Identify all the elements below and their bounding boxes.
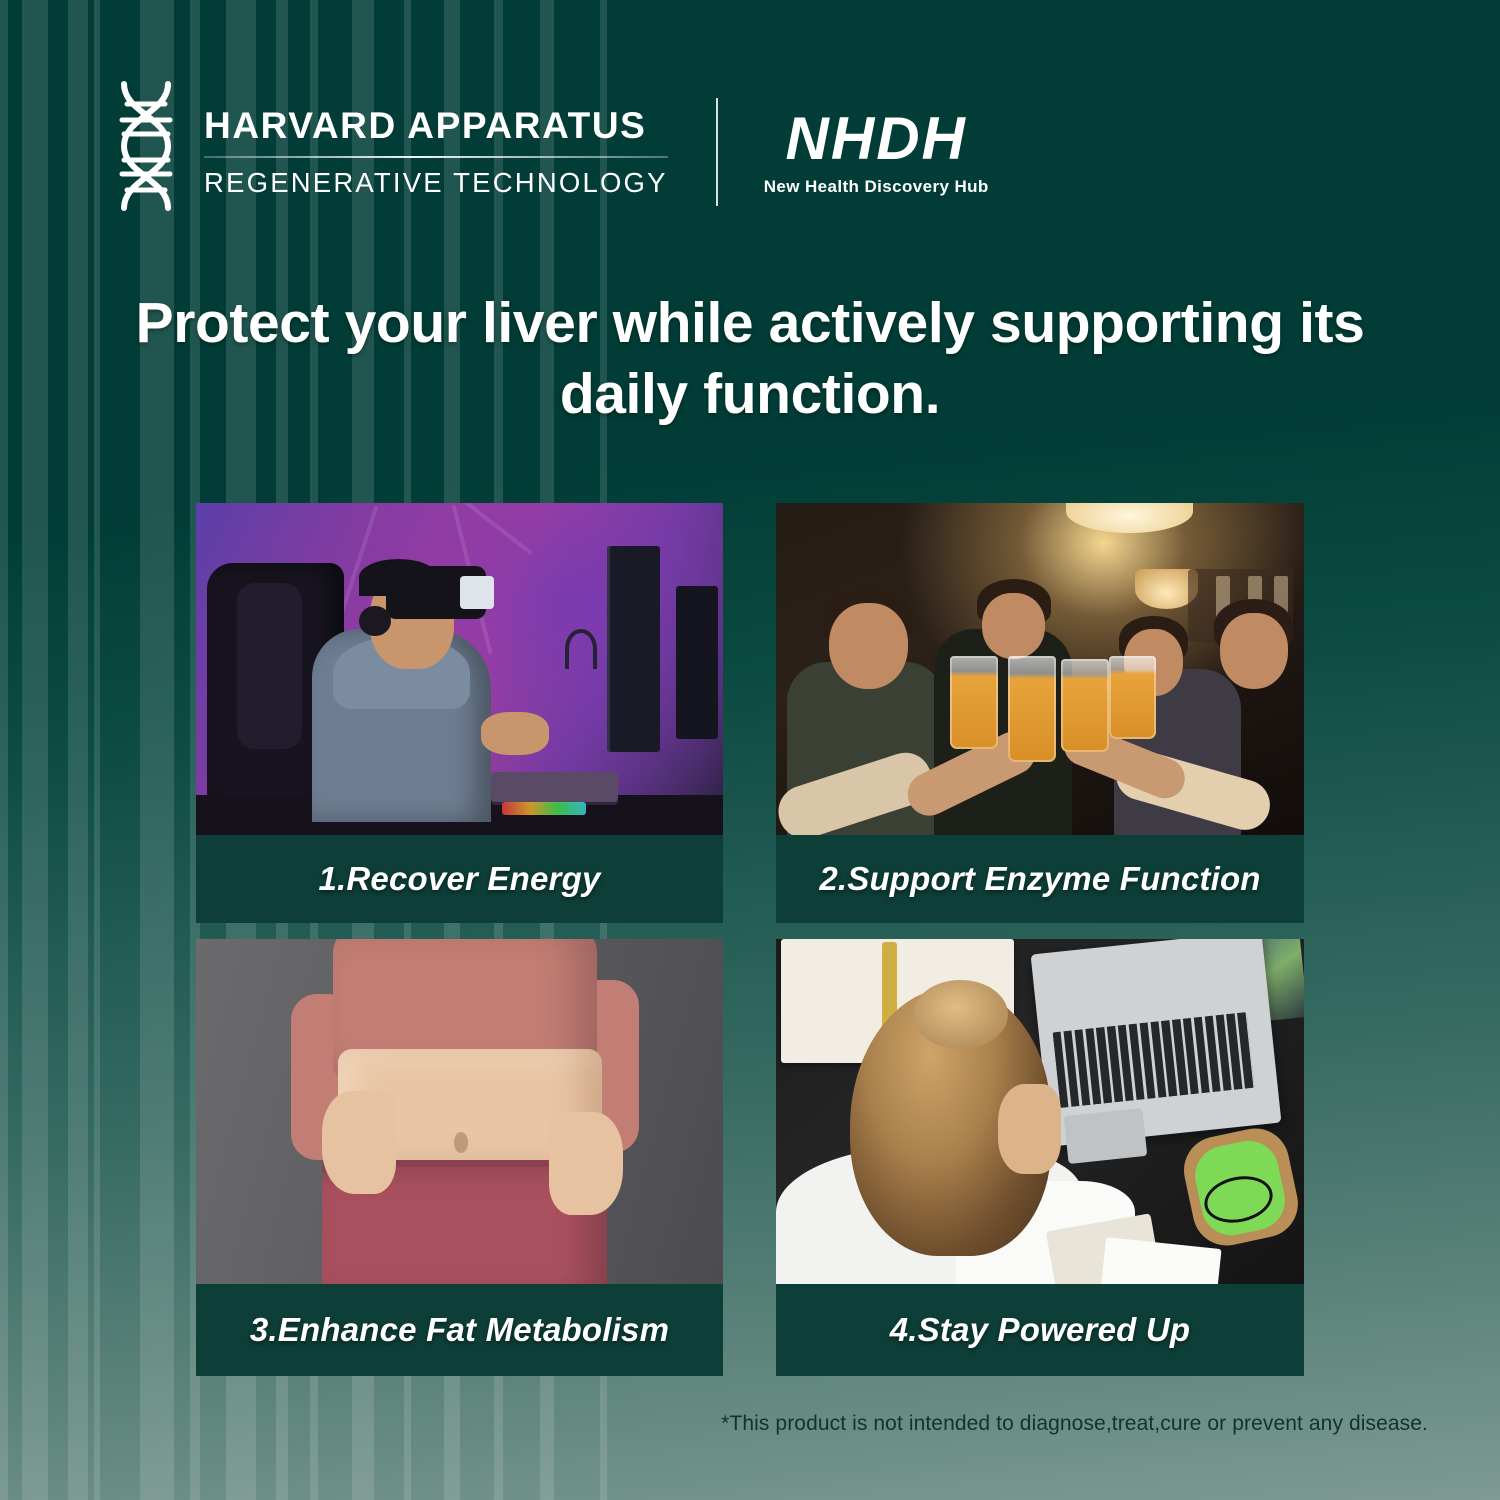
benefit-row-top: 1.Recover Energy — [196, 503, 1304, 923]
benefit-card-1: 1.Recover Energy — [196, 503, 723, 923]
benefit-card-4: 4.Stay Powered Up — [776, 939, 1304, 1376]
promo-infographic: HARVARD APPARATUS REGENERATIVE TECHNOLOG… — [0, 0, 1500, 1500]
benefit-card-2: 2.Support Enzyme Function — [776, 503, 1304, 923]
benefit-photo-3 — [196, 939, 723, 1284]
nhdh-tagline: New Health Discovery Hub — [764, 178, 989, 195]
benefit-grid: 1.Recover Energy — [196, 503, 1304, 1376]
benefit-card-3: 3.Enhance Fat Metabolism — [196, 939, 723, 1376]
benefit-row-bottom: 3.Enhance Fat Metabolism — [196, 939, 1304, 1376]
benefit-photo-1 — [196, 503, 723, 835]
harvard-apparatus-tagline: REGENERATIVE TECHNOLOGY — [204, 169, 668, 197]
brand-header: HARVARD APPARATUS REGENERATIVE TECHNOLOG… — [110, 78, 989, 226]
benefit-caption-4: 4.Stay Powered Up — [776, 1284, 1304, 1376]
page-title: Protect your liver while actively suppor… — [90, 288, 1410, 429]
nhdh-wordmark: NHDH New Health Discovery Hub — [764, 109, 989, 195]
wordmark-divider-rule — [204, 156, 668, 158]
harvard-apparatus-name: HARVARD APPARATUS — [204, 107, 668, 144]
logo-separator — [716, 98, 718, 206]
benefit-caption-3: 3.Enhance Fat Metabolism — [196, 1284, 723, 1376]
benefit-photo-4 — [776, 939, 1304, 1284]
nhdh-name: NHDH — [764, 109, 989, 169]
legal-disclaimer: *This product is not intended to diagnos… — [721, 1412, 1428, 1436]
dna-helix-icon — [110, 78, 182, 226]
benefit-caption-2: 2.Support Enzyme Function — [776, 835, 1304, 923]
harvard-apparatus-wordmark: HARVARD APPARATUS REGENERATIVE TECHNOLOG… — [204, 107, 668, 197]
benefit-caption-1: 1.Recover Energy — [196, 835, 723, 923]
benefit-photo-2 — [776, 503, 1304, 835]
